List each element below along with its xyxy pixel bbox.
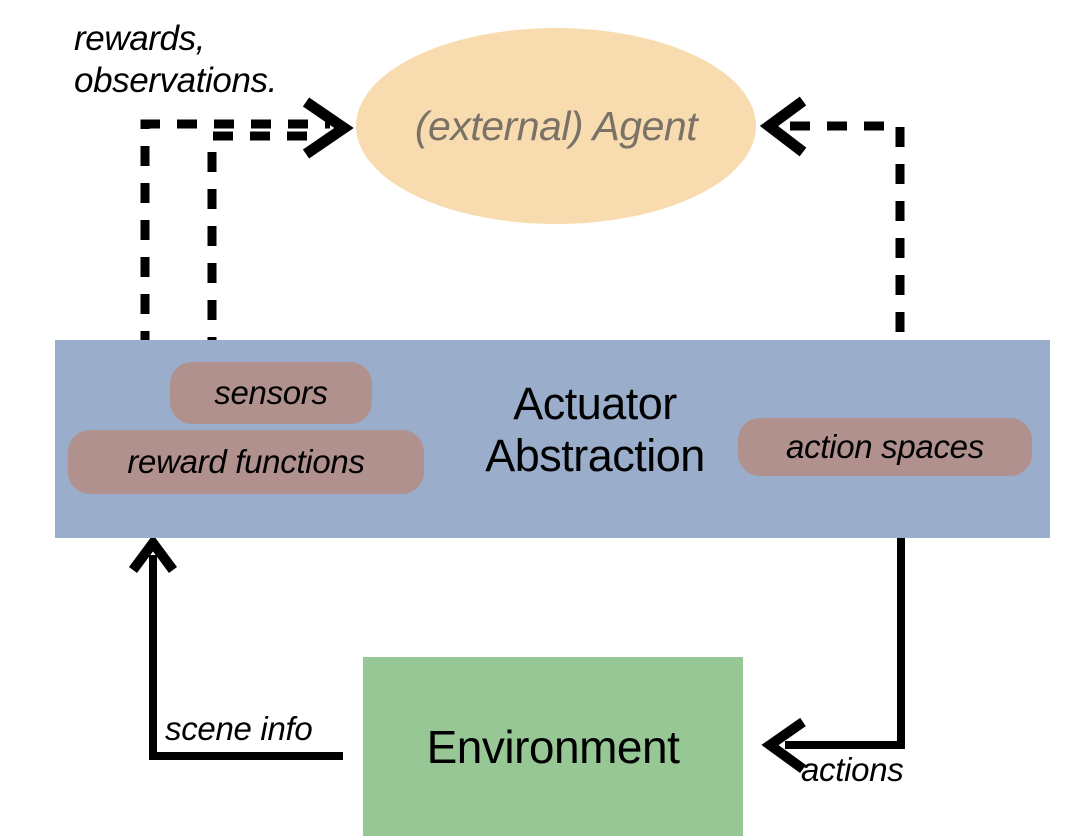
badge-action-spaces[interactable]: action spaces <box>738 418 1032 476</box>
actuator-abstraction-label: Actuator Abstraction <box>455 378 735 482</box>
badge-sensors[interactable]: sensors <box>170 362 372 424</box>
external-agent-label: (external) Agent <box>415 103 697 150</box>
badge-sensors-label: sensors <box>214 374 327 412</box>
badge-action-spaces-label: action spaces <box>786 428 984 466</box>
arrowhead-toward-agent-icon <box>769 101 803 152</box>
edge-label-rewards-observations: rewards, observations. <box>74 18 277 102</box>
badge-reward-functions-label: reward functions <box>127 443 364 481</box>
badge-reward-functions[interactable]: reward functions <box>68 430 424 494</box>
edge-label-scene-info: scene info <box>165 710 312 748</box>
external-agent-node[interactable]: (external) Agent <box>356 28 756 224</box>
diagram-canvas: Actuator Abstraction sensors reward func… <box>0 0 1091 836</box>
edge-label-actions: actions <box>801 751 903 789</box>
environment-node[interactable]: Environment <box>363 657 743 836</box>
arrowhead-into-environment-icon <box>770 722 803 769</box>
arrowhead-into-band-icon <box>133 543 173 570</box>
environment-label: Environment <box>427 720 680 774</box>
arrowhead-into-agent-icon <box>306 102 344 154</box>
